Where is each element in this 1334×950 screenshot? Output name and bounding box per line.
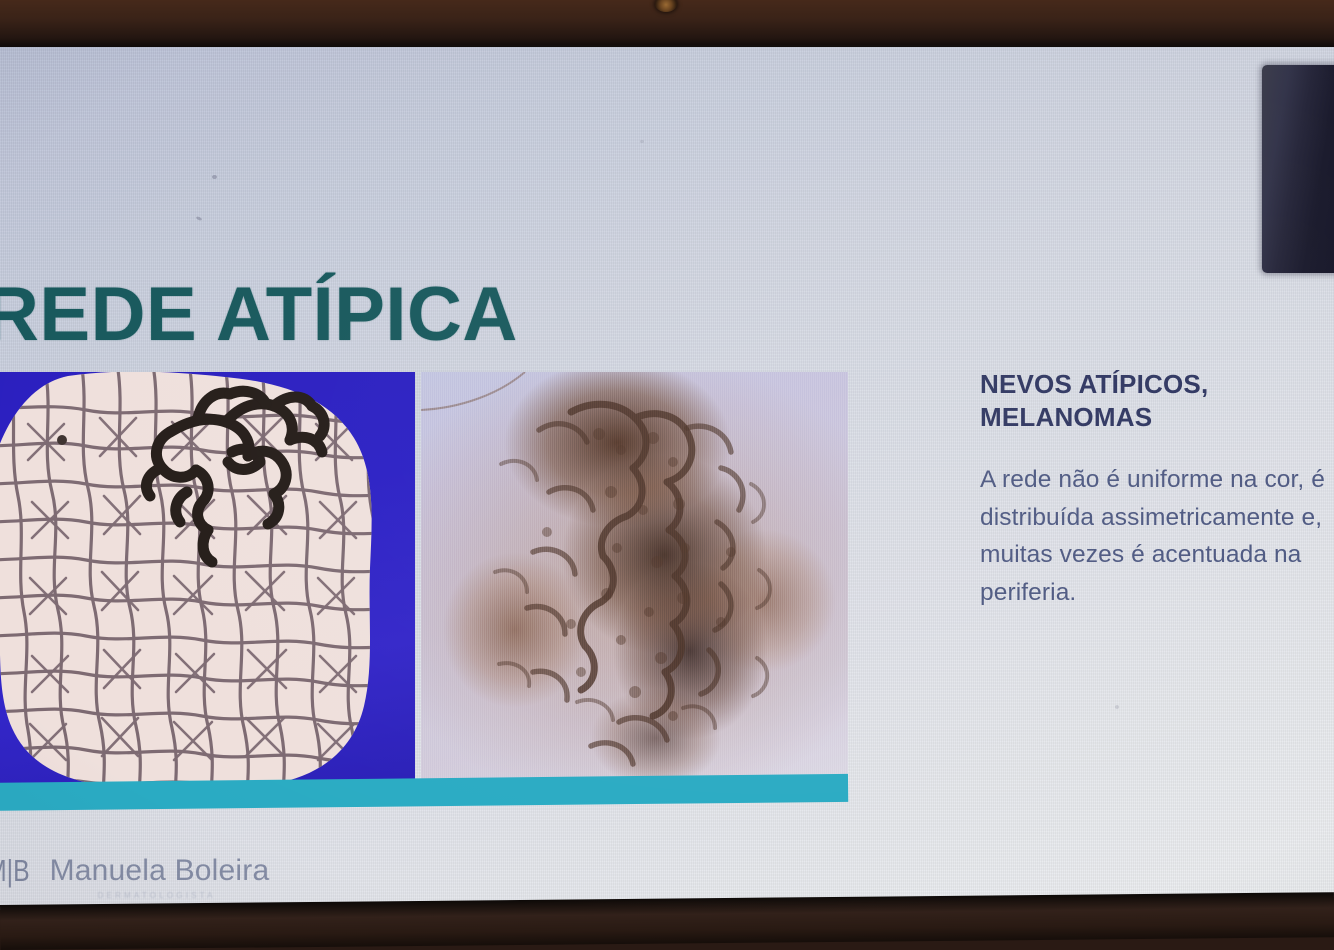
page-title: REDE ATÍPICA	[0, 277, 518, 353]
brand-logo: M|B Manuela Boleira DERMATOLOGISTA	[0, 855, 269, 900]
section-heading: NEVOS ATÍPICOS, MELANOMAS	[980, 368, 1334, 435]
photo-grain-overlay	[421, 372, 848, 788]
logo-text-wrap: Manuela Boleira DERMATOLOGISTA	[50, 855, 270, 900]
presentation-slide: REDE ATÍPICA	[0, 45, 1334, 910]
dust-speck	[1115, 705, 1119, 709]
pigment-network-diagram-icon	[0, 372, 415, 788]
body-paragraph: A rede não é uniforme na cor, é distribu…	[980, 461, 1334, 613]
text-column: NEVOS ATÍPICOS, MELANOMAS A rede não é u…	[980, 368, 1334, 612]
dust-speck	[640, 140, 644, 143]
logo-name: Manuela Boleira	[50, 854, 270, 887]
laptop-screen-photo: REDE ATÍPICA	[0, 0, 1334, 950]
webcam-icon	[655, 0, 677, 12]
figure-row	[0, 372, 848, 788]
screen-reflection-panel	[1262, 65, 1334, 273]
dust-speck	[212, 175, 217, 179]
logo-subtitle: DERMATOLOGISTA	[98, 891, 270, 900]
laptop-bezel-top	[0, 0, 1334, 47]
dust-speck	[196, 216, 203, 221]
dermoscopy-atypical-network-figure	[421, 372, 848, 788]
globule-dot-icon	[57, 435, 67, 445]
logo-monogram: M|B	[0, 855, 30, 886]
schematic-pigment-network-figure	[0, 372, 415, 788]
